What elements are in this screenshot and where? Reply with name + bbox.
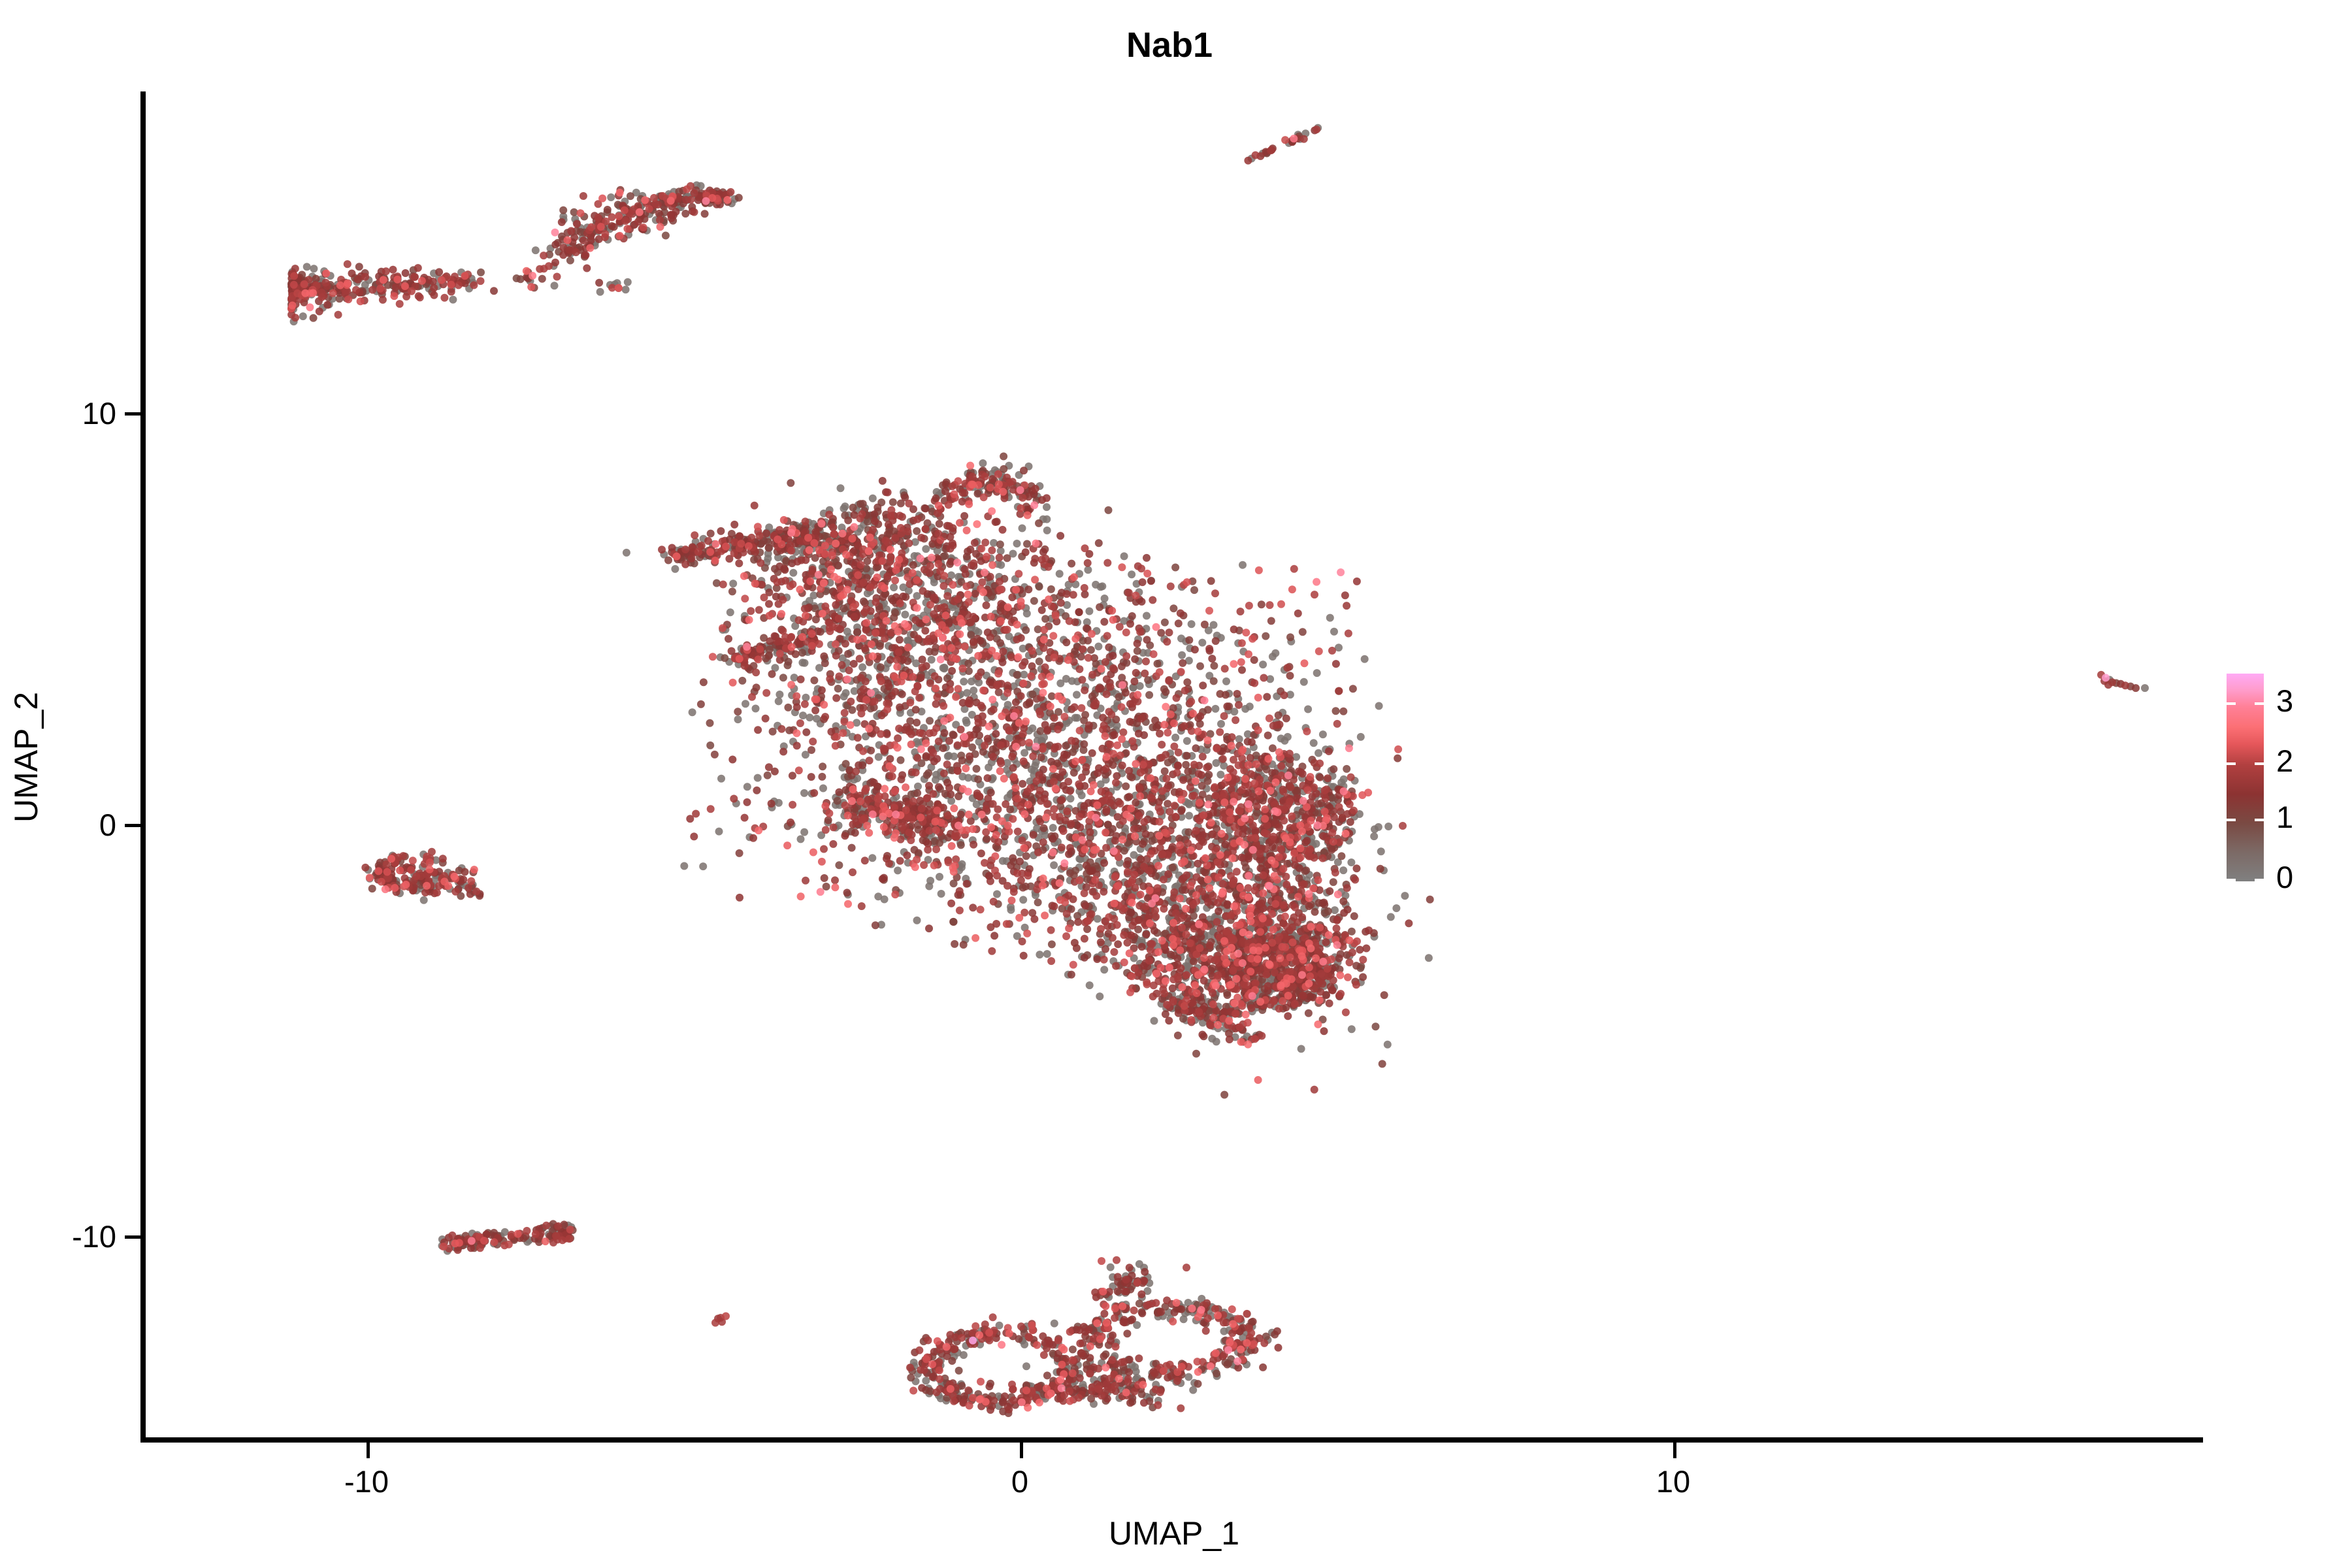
color-legend: 3 2 1 0 [2227, 674, 2351, 883]
x-axis-line [140, 1437, 2203, 1443]
y-tick-mark-10 [125, 412, 140, 416]
colorbar-tick-0-left [2227, 879, 2236, 881]
y-axis-line [140, 91, 146, 1443]
umap-feature-plot: Nab1 -10 0 10 10 0 -10 UMAP_1 UMAP_2 3 2… [0, 0, 2352, 1568]
colorbar-tick-0-right [2255, 879, 2264, 881]
x-tick-label-neg10: -10 [295, 1463, 438, 1499]
colorbar-label-2: 2 [2276, 745, 2293, 776]
x-tick-mark-0 [1020, 1443, 1023, 1458]
colorbar-tick-1-right [2255, 819, 2264, 821]
plot-panel [145, 91, 2203, 1441]
y-tick-label-10: 10 [12, 395, 116, 431]
colorbar-tick-1-left [2227, 819, 2236, 821]
colorbar-tick-2-left [2227, 762, 2236, 765]
y-tick-label-neg10: -10 [12, 1218, 116, 1254]
colorbar-label-3: 3 [2276, 685, 2293, 716]
scatter-points-layer [145, 91, 2203, 1441]
colorbar-label-0: 0 [2276, 862, 2293, 892]
x-tick-label-10: 10 [1601, 1463, 1745, 1499]
y-tick-mark-neg10 [125, 1235, 140, 1239]
x-tick-label-0: 0 [948, 1463, 1092, 1499]
y-tick-mark-0 [125, 824, 140, 827]
colorbar-tick-2-right [2255, 762, 2264, 765]
colorbar-label-1: 1 [2276, 802, 2293, 832]
x-tick-mark-10 [1673, 1443, 1676, 1458]
colorbar-tick-3-right [2255, 702, 2264, 705]
x-tick-mark-neg10 [367, 1443, 370, 1458]
y-axis-title: UMAP_2 [7, 463, 45, 1051]
page-title: Nab1 [0, 25, 2345, 65]
x-axis-title: UMAP_1 [145, 1514, 2203, 1552]
colorbar-tick-3-left [2227, 702, 2236, 705]
